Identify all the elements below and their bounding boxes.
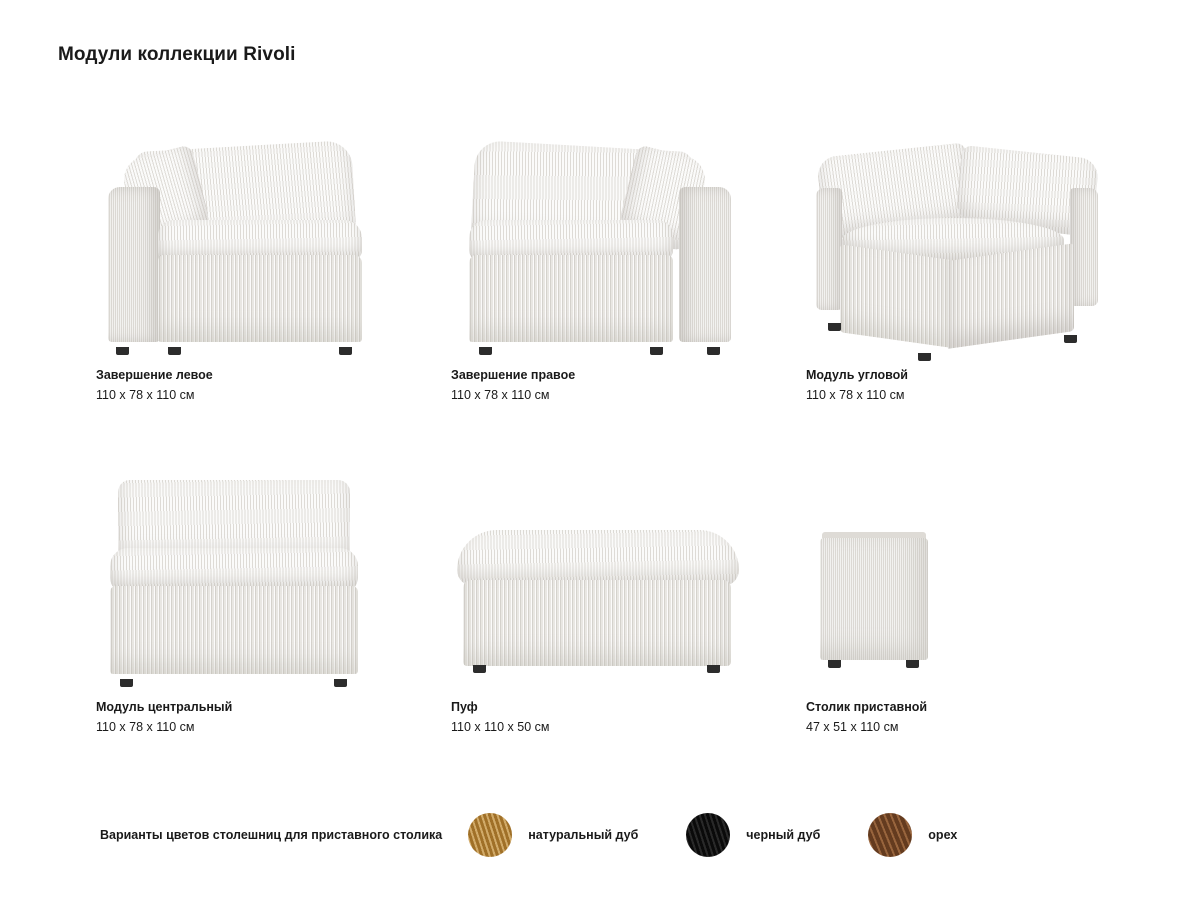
module-caption-corner: Модуль угловой 110 x 78 x 110 см [806,366,1106,404]
sofa-foot [120,679,133,687]
module-name: Модуль центральный [96,698,396,716]
module-dimensions: 110 x 110 x 50 см [451,718,751,736]
sofa-foot [707,347,720,355]
sofa-foot [116,347,129,355]
module-dimensions: 110 x 78 x 110 см [451,386,751,404]
module-image-side-table [806,472,1106,687]
sofa-foot [650,347,663,355]
sofa-foot [168,347,181,355]
module-image-ottoman [451,472,751,687]
module-name: Столик приставной [806,698,1106,716]
swatch-label: орех [928,828,957,842]
swatch-natural-oak-icon[interactable] [468,813,512,857]
swatch-black-oak-icon[interactable] [686,813,730,857]
module-caption-right-end: Завершение правое 110 x 78 x 110 см [451,366,751,404]
swatch-label: натуральный дуб [528,828,638,842]
sofa-foot [1064,335,1077,343]
module-card-side-table[interactable]: Столик приставной 47 x 51 x 110 см [768,472,1123,737]
sofa-corner-icon [806,140,1106,355]
sofa-foot [334,679,347,687]
module-card-corner[interactable]: Модуль угловой 110 x 78 x 110 см [768,140,1123,405]
modules-grid: Завершение левое 110 x 78 x 110 см [58,140,1142,737]
module-image-left-end [96,140,396,355]
module-dimensions: 110 x 78 x 110 см [96,718,396,736]
module-name: Модуль угловой [806,366,1106,384]
module-dimensions: 47 x 51 x 110 см [806,718,1106,736]
sofa-left-end-icon [96,140,396,355]
module-image-corner [806,140,1106,355]
module-name: Завершение левое [96,366,396,384]
sofa-foot [828,323,841,331]
sofa-foot [479,347,492,355]
table-foot [828,660,841,668]
sofa-foot [918,353,931,361]
page-root: Модули коллекции Rivoli [0,0,1200,900]
module-card-ottoman[interactable]: Пуф 110 x 110 x 50 см [413,472,768,737]
module-caption-ottoman: Пуф 110 x 110 x 50 см [451,698,751,736]
sofa-foot [339,347,352,355]
module-image-center [96,472,396,687]
module-card-right-end[interactable]: Завершение правое 110 x 78 x 110 см [413,140,768,405]
swatch-walnut-icon[interactable] [868,813,912,857]
table-foot [906,660,919,668]
sofa-center-icon [96,472,396,687]
sofa-right-end-icon [451,140,751,355]
legend-title: Варианты цветов столешниц для приставног… [100,828,442,842]
sofa-foot [707,665,720,673]
module-card-center[interactable]: Модуль центральный 110 x 78 x 110 см [58,472,413,737]
side-table-icon [806,472,1106,687]
tabletop-color-legend: Варианты цветов столешниц для приставног… [100,812,1100,858]
module-name: Пуф [451,698,751,716]
module-caption-left-end: Завершение левое 110 x 78 x 110 см [96,366,396,404]
module-card-left-end[interactable]: Завершение левое 110 x 78 x 110 см [58,140,413,405]
swatch-label: черный дуб [746,828,820,842]
module-caption-center: Модуль центральный 110 x 78 x 110 см [96,698,396,736]
module-dimensions: 110 x 78 x 110 см [96,386,396,404]
legend-option-walnut[interactable]: орех [868,813,957,857]
module-image-right-end [451,140,751,355]
ottoman-icon [451,472,751,687]
module-name: Завершение правое [451,366,751,384]
module-dimensions: 110 x 78 x 110 см [806,386,1106,404]
legend-option-natural-oak[interactable]: натуральный дуб [468,813,638,857]
module-caption-side-table: Столик приставной 47 x 51 x 110 см [806,698,1106,736]
sofa-foot [473,665,486,673]
legend-option-black-oak[interactable]: черный дуб [686,813,820,857]
page-title: Модули коллекции Rivoli [58,44,296,66]
